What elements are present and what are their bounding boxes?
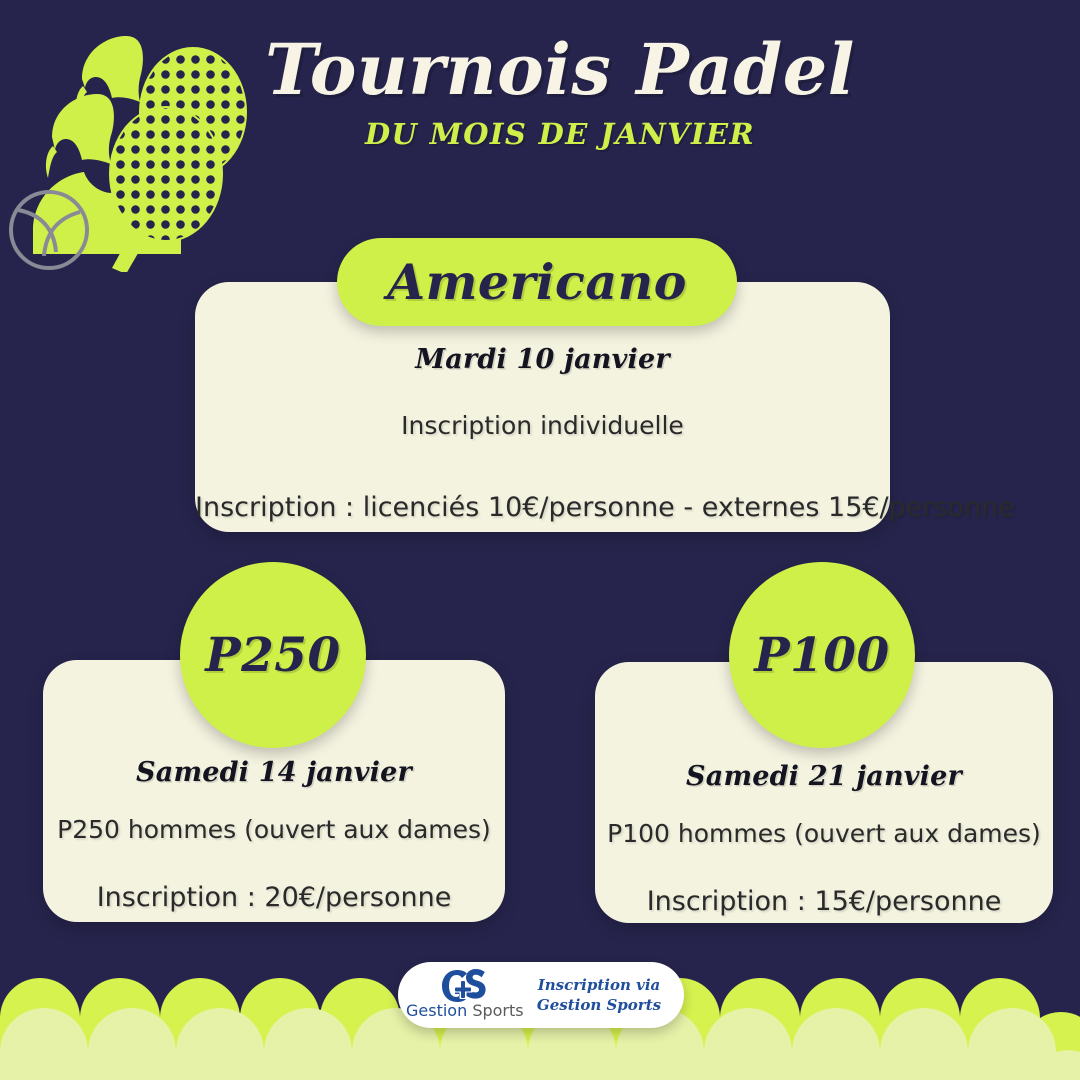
poster-header: Tournois Padel DU MOIS DE JANVIER xyxy=(250,34,870,151)
badge-label: P100 xyxy=(754,628,889,683)
card-content: Samedi 14 janvier P250 hommes (ouvert au… xyxy=(43,757,505,913)
card-price: Inscription : 15€/personne xyxy=(595,886,1053,917)
badge-label: P250 xyxy=(205,628,340,683)
gestion-sports-logo: Gestion Sports xyxy=(398,962,526,1028)
card-content: Mardi 10 janvier Inscription individuell… xyxy=(195,344,890,523)
card-date: Samedi 21 janvier xyxy=(595,761,1053,792)
card-date: Mardi 10 janvier xyxy=(195,344,890,375)
badge-p100: P100 xyxy=(729,562,915,748)
logo-word-gestion: Gestion xyxy=(406,1001,467,1020)
card-price: Inscription : licenciés 10€/personne - e… xyxy=(195,492,890,523)
logo-word-sports: Sports xyxy=(472,1001,523,1020)
card-price: Inscription : 20€/personne xyxy=(43,882,505,913)
badge-label: Americano xyxy=(387,253,687,311)
card-date: Samedi 14 janvier xyxy=(43,757,505,788)
badge-americano: Americano xyxy=(337,238,737,326)
card-content: Samedi 21 janvier P100 hommes (ouvert au… xyxy=(595,761,1053,917)
gs-monogram-icon xyxy=(440,967,486,1005)
footer-cta-text: Inscription via Gestion Sports xyxy=(526,975,684,1016)
footer-registration-badge[interactable]: Gestion Sports Inscription via Gestion S… xyxy=(398,962,684,1028)
padel-rackets-players-logo xyxy=(8,22,258,272)
gestion-sports-wordmark: Gestion Sports xyxy=(406,1003,518,1019)
card-description: Inscription individuelle xyxy=(195,411,890,440)
footer-cta-line-1: Inscription via xyxy=(526,975,672,995)
card-description: P100 hommes (ouvert aux dames) xyxy=(595,819,1053,848)
card-description: P250 hommes (ouvert aux dames) xyxy=(43,815,505,844)
badge-p250: P250 xyxy=(180,562,366,748)
footer-cta-line-2: Gestion Sports xyxy=(526,995,672,1015)
page-subtitle: DU MOIS DE JANVIER xyxy=(250,117,870,151)
page-title: Tournois Padel xyxy=(250,34,870,107)
poster-canvas: Tournois Padel DU MOIS DE JANVIER Mardi … xyxy=(0,0,1080,1080)
